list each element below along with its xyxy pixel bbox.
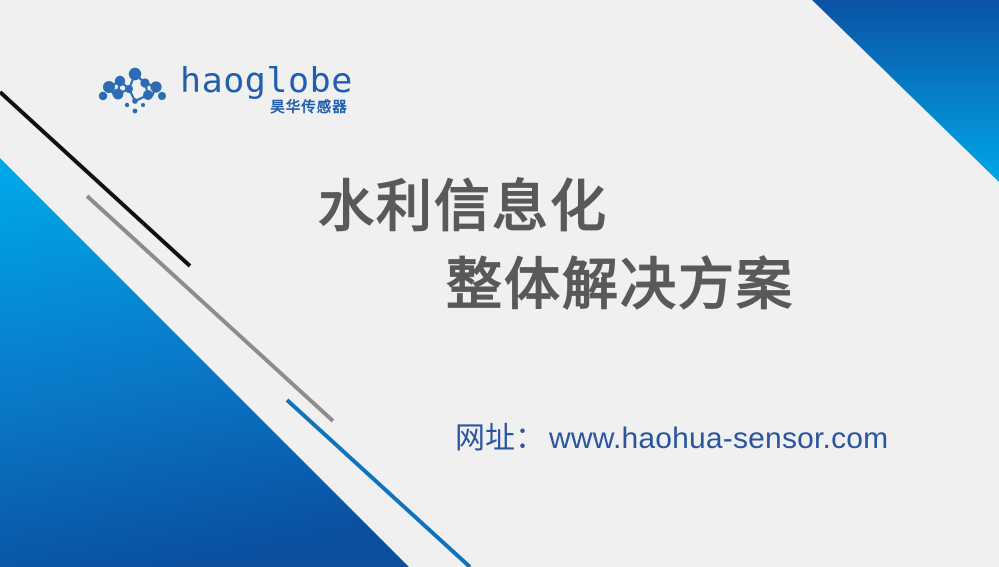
- gray-diagonal-line: [87, 196, 333, 421]
- blue-diagonal-line: [287, 400, 470, 567]
- website-url-value[interactable]: www.haohua-sensor.com: [549, 419, 888, 459]
- top-right-triangle: [812, 0, 999, 182]
- haoglobe-network-logo-mark: [96, 61, 174, 119]
- company-logo: haoglobe 昊华传感器: [96, 56, 326, 124]
- logo-subtext: 昊华传感器: [270, 100, 348, 117]
- logo-text-block: haoglobe 昊华传感器: [180, 64, 348, 117]
- page-title-line-1: 水利信息化: [318, 168, 918, 246]
- website-url-label: 网址：: [455, 419, 545, 459]
- presentation-slide: haoglobe 昊华传感器 水利信息化 整体解决方案 网址： www.haoh…: [0, 0, 999, 567]
- page-title-line-2: 整体解决方案: [318, 246, 918, 324]
- logo-wordmark: haoglobe: [180, 64, 353, 98]
- page-title: 水利信息化 整体解决方案: [318, 168, 918, 324]
- website-url: 网址： www.haohua-sensor.com: [455, 419, 888, 459]
